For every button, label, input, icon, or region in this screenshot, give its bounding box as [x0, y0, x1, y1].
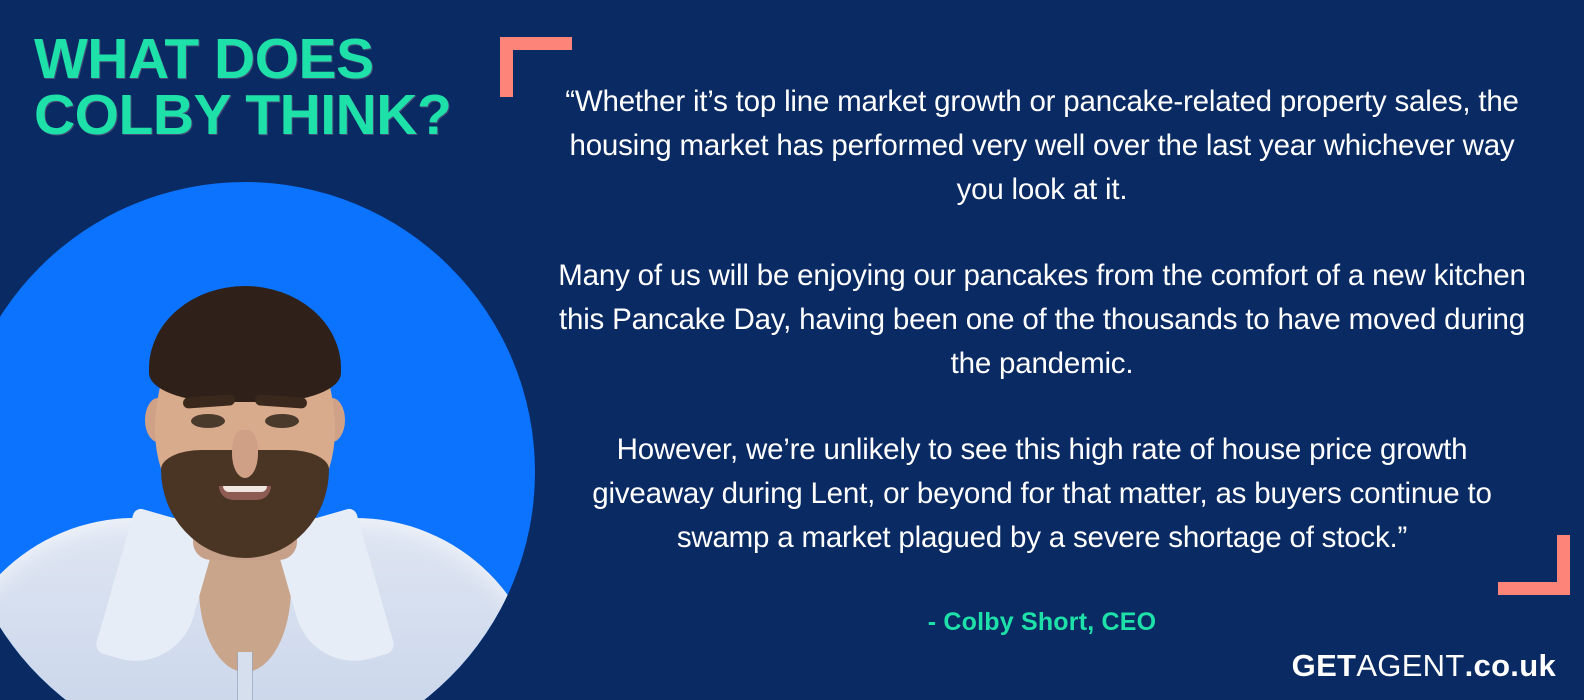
quote-card: WHAT DOES COLBY THINK?: [0, 0, 1584, 700]
hair: [149, 286, 341, 402]
getagent-logo: GETAGENT.co.uk: [1292, 648, 1556, 684]
portrait-photo: [0, 182, 535, 700]
avatar: [0, 182, 535, 700]
eye-left: [191, 414, 225, 428]
bracket-vertical-bar: [1557, 535, 1570, 595]
quote-paragraph-3: However, we’re unlikely to see this high…: [552, 428, 1532, 560]
nose: [232, 430, 258, 478]
quote-attribution: - Colby Short, CEO: [552, 608, 1532, 637]
quote-paragraph-1: “Whether it’s top line market growth or …: [552, 80, 1532, 212]
quote-text: “Whether it’s top line market growth or …: [552, 80, 1532, 560]
bracket-vertical-bar: [500, 37, 513, 97]
eye-right: [265, 414, 299, 428]
logo-agent: AGENT: [1356, 648, 1464, 683]
logo-domain: .co.uk: [1465, 648, 1556, 683]
logo-get: GET: [1292, 648, 1357, 683]
page-title: WHAT DOES COLBY THINK?: [34, 32, 504, 144]
quote-paragraph-2: Many of us will be enjoying our pancakes…: [552, 254, 1532, 386]
shirt-placket: [238, 652, 252, 700]
mouth: [219, 486, 271, 500]
